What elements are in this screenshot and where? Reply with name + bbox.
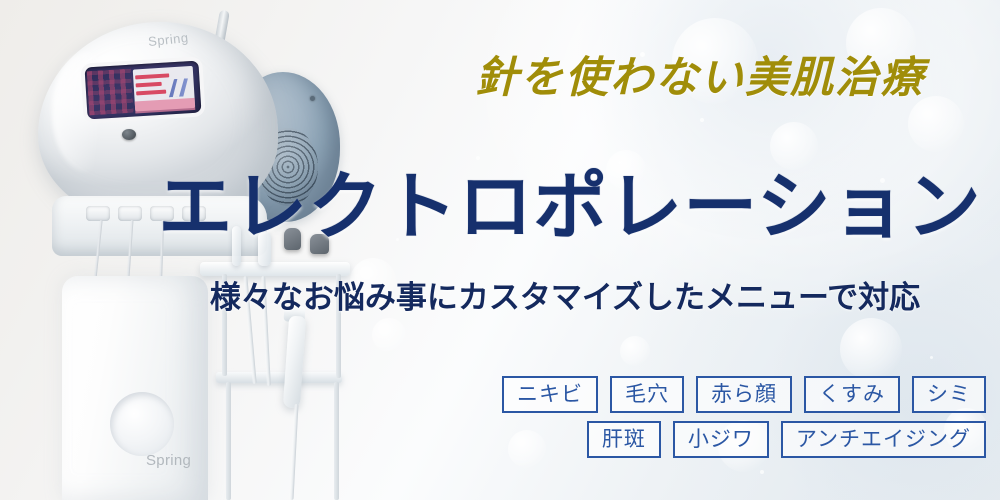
screen-bar bbox=[136, 90, 166, 96]
tag-kusumi[interactable]: くすみ bbox=[804, 376, 900, 413]
screen-value-readout bbox=[166, 78, 191, 97]
bokeh-circle bbox=[770, 122, 818, 170]
accessory-tray-bottom bbox=[216, 372, 342, 383]
bokeh-circle bbox=[620, 336, 650, 366]
banner-headline: 針を使わない美肌治療 bbox=[420, 57, 980, 100]
device-side-screw bbox=[310, 96, 315, 101]
bokeh-dot bbox=[930, 356, 933, 359]
tag-kojiwa[interactable]: 小ジワ bbox=[673, 421, 769, 458]
handpiece-tube bbox=[289, 404, 298, 500]
bokeh-dot bbox=[700, 118, 704, 122]
device-port bbox=[118, 206, 142, 221]
tag-keana[interactable]: 毛穴 bbox=[610, 376, 684, 413]
electroporation-device-image: Spring Spring bbox=[0, 0, 420, 500]
bokeh-dot bbox=[476, 156, 480, 160]
device-control-knob[interactable] bbox=[122, 129, 136, 140]
bokeh-circle bbox=[908, 96, 964, 152]
treatment-tag-row-2: 肝斑 小ジワ アンチエイジング bbox=[587, 421, 986, 458]
treatment-tag-row-1: ニキビ 毛穴 赤ら顔 くすみ シミ bbox=[502, 376, 986, 413]
tray-leg bbox=[334, 382, 339, 500]
screen-preset-grid bbox=[87, 69, 134, 116]
screen-status-strip bbox=[135, 98, 196, 114]
device-port bbox=[86, 206, 110, 221]
device-touchscreen[interactable] bbox=[85, 61, 202, 120]
device-pedestal-dimple bbox=[110, 392, 174, 456]
tag-shimi[interactable]: シミ bbox=[912, 376, 986, 413]
banner-title: エレクトロポレーション bbox=[140, 170, 1000, 244]
device-base-logo: Spring bbox=[146, 452, 191, 469]
banner-subtitle: 様々なお悩み事にカスタマイズしたメニューで対応 bbox=[150, 283, 980, 314]
tag-kanpan[interactable]: 肝斑 bbox=[587, 421, 661, 458]
tag-anti-aging[interactable]: アンチエイジング bbox=[781, 421, 986, 458]
promo-banner: Spring Spring 針を使わない美肌治療 エレクトロポレーション 様々な… bbox=[0, 0, 1000, 500]
tray-leg bbox=[226, 382, 231, 500]
treatment-wand bbox=[283, 316, 306, 409]
screen-bar bbox=[135, 73, 169, 79]
screen-bar bbox=[136, 82, 162, 88]
bokeh-circle bbox=[840, 318, 902, 380]
bokeh-dot bbox=[760, 470, 764, 474]
treatment-tag-list: ニキビ 毛穴 赤ら顔 くすみ シミ 肝斑 小ジワ アンチエイジング bbox=[396, 376, 986, 458]
tag-akaragao[interactable]: 赤ら顔 bbox=[696, 376, 792, 413]
tag-nikibi[interactable]: ニキビ bbox=[502, 376, 598, 413]
